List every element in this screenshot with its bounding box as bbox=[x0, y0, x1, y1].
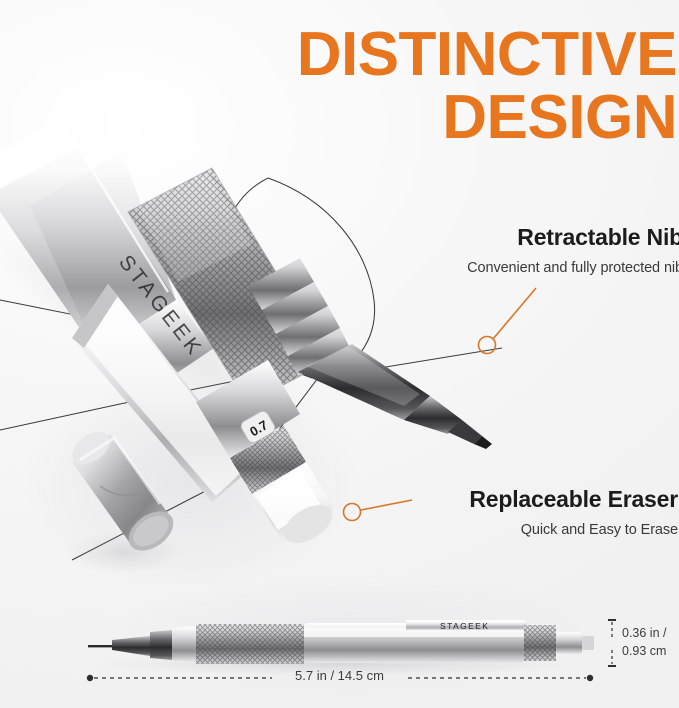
callout-nib-title: Retractable Nib bbox=[467, 224, 679, 251]
leader-circle-eraser bbox=[344, 504, 361, 521]
leader-line-eraser bbox=[361, 500, 412, 510]
leader-line-nib bbox=[493, 288, 536, 339]
callout-eraser-title: Replaceable Eraser bbox=[469, 486, 678, 513]
headline-line-2: DESIGN bbox=[297, 89, 677, 146]
side-view-eraser-end bbox=[556, 632, 582, 654]
hero-pencil: STAGEEK bbox=[0, 120, 492, 551]
callout-eraser-subtitle: Quick and Easy to Erase bbox=[469, 522, 678, 538]
callout-nib-subtitle: Convenient and fully protected nib bbox=[467, 260, 679, 276]
diameter-line-2: 0.93 cm bbox=[622, 643, 666, 661]
diameter-line-1: 0.36 in / bbox=[622, 625, 666, 643]
length-value: 5.7 in / 14.5 cm bbox=[286, 668, 393, 683]
headline: DISTINCTIVE DESIGN bbox=[297, 26, 677, 146]
hero-pencil-nib-cone bbox=[298, 344, 492, 449]
length-dimension-label: 5.7 in / 14.5 cm bbox=[0, 668, 679, 683]
callout-replaceable-eraser: Replaceable Eraser Quick and Easy to Era… bbox=[469, 486, 678, 538]
side-view-nib-cone bbox=[112, 636, 150, 656]
leader-circle-nib bbox=[479, 337, 496, 354]
product-marketing-image: STAGEEK bbox=[0, 0, 679, 708]
side-view-lead bbox=[88, 645, 112, 647]
callout-retractable-nib: Retractable Nib Convenient and fully pro… bbox=[467, 224, 679, 276]
headline-line-1: DISTINCTIVE bbox=[297, 26, 677, 83]
side-view-clip-engraving: STAGEEK bbox=[440, 621, 489, 631]
diameter-dimension-label: 0.36 in / 0.93 cm bbox=[622, 625, 666, 661]
